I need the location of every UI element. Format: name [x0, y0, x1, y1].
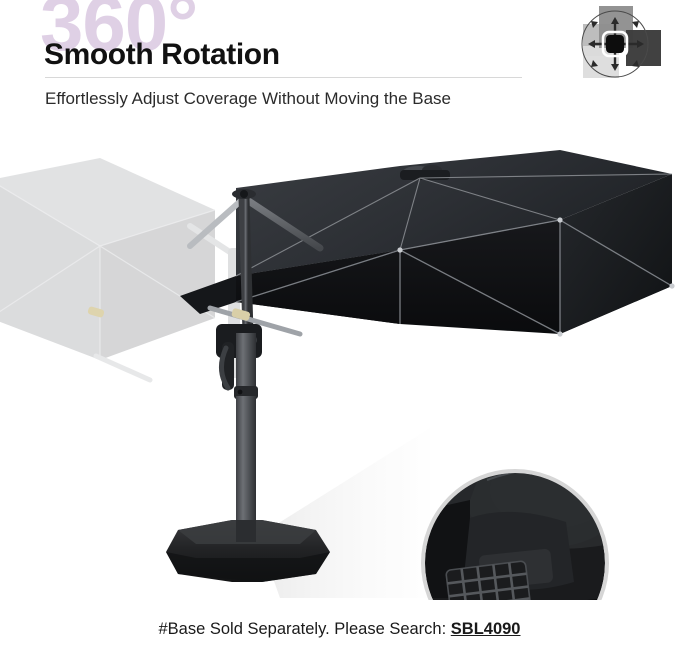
detail-inset-circle	[423, 444, 625, 600]
footer-note: #Base Sold Separately. Please Search: SB…	[0, 620, 679, 639]
ghost-umbrella	[0, 158, 240, 380]
header-divider	[45, 77, 522, 78]
umbrella-pole	[234, 333, 258, 536]
icon-center-post	[606, 35, 624, 53]
page-title: Smooth Rotation	[44, 40, 280, 70]
rotation-diagram-icon	[552, 2, 674, 84]
umbrella-base	[166, 520, 330, 582]
page-subtitle: Effortlessly Adjust Coverage Without Mov…	[45, 88, 451, 110]
footer-note-text: #Base Sold Separately. Please Search:	[158, 620, 450, 638]
footer-sku: SBL4090	[451, 620, 521, 638]
product-scene	[0, 128, 679, 600]
